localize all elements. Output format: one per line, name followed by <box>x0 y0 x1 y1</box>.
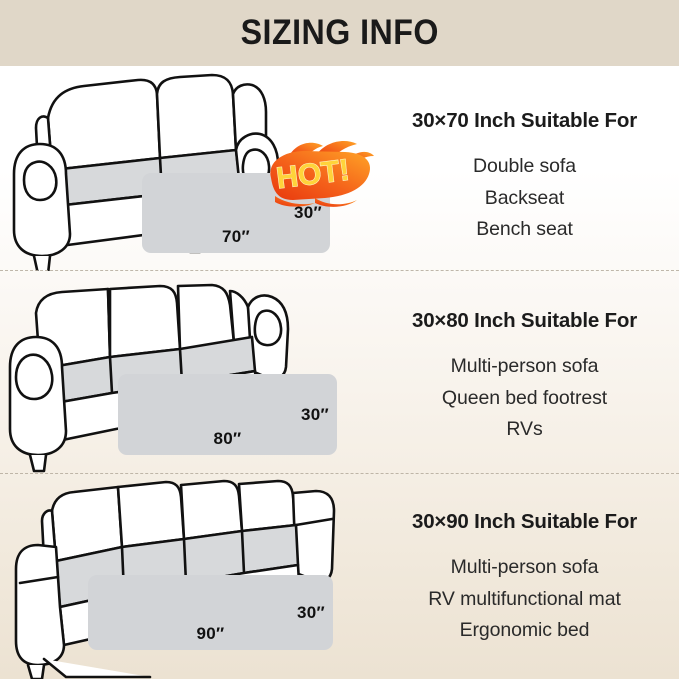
size-use-list: Multi-person sofa Queen bed footrest RVs <box>442 353 607 444</box>
mat-width-label: 70″ <box>142 227 330 247</box>
header-banner: SIZING INFO <box>0 0 679 66</box>
size-section-30x70: 30″ 70″ <box>0 66 679 271</box>
mat-dimension-30x80: 30″ 80″ <box>118 374 337 455</box>
size-use-list: Multi-person sofa RV multifunctional mat… <box>428 554 621 645</box>
page-title: SIZING INFO <box>240 13 438 53</box>
list-item: RVs <box>506 416 542 444</box>
mat-height-label: 30″ <box>301 405 329 425</box>
mat-height-label: 30″ <box>297 603 325 623</box>
list-item: Double sofa <box>473 153 576 181</box>
size-use-list: Double sofa Backseat Bench seat <box>473 153 576 244</box>
list-item: Backseat <box>485 185 564 213</box>
list-item: RV multifunctional mat <box>428 586 621 614</box>
list-item: Bench seat <box>476 216 573 244</box>
mat-dimension-30x90: 30″ 90″ <box>88 575 333 650</box>
list-item: Ergonomic bed <box>460 617 590 645</box>
size-title: 30×80 Inch Suitable For <box>412 309 637 333</box>
mat-width-label: 80″ <box>118 429 337 449</box>
mat-width-label: 90″ <box>88 624 333 644</box>
sizing-info-infographic: SIZING INFO <box>0 0 679 679</box>
size-title: 30×90 Inch Suitable For <box>412 510 637 534</box>
size-title: 30×70 Inch Suitable For <box>412 109 637 133</box>
size-section-30x90: 30″ 90″ 30×90 Inch Suitable For Multi-pe… <box>0 473 679 679</box>
list-item: Multi-person sofa <box>451 554 599 582</box>
size-section-30x80: 30″ 80″ 30×80 Inch Suitable For Multi-pe… <box>0 271 679 473</box>
list-item: Multi-person sofa <box>451 353 599 381</box>
list-item: Queen bed footrest <box>442 385 607 413</box>
size-text-block-30x90: 30×90 Inch Suitable For Multi-person sof… <box>370 473 679 679</box>
hot-badge: HOT! <box>253 140 375 208</box>
